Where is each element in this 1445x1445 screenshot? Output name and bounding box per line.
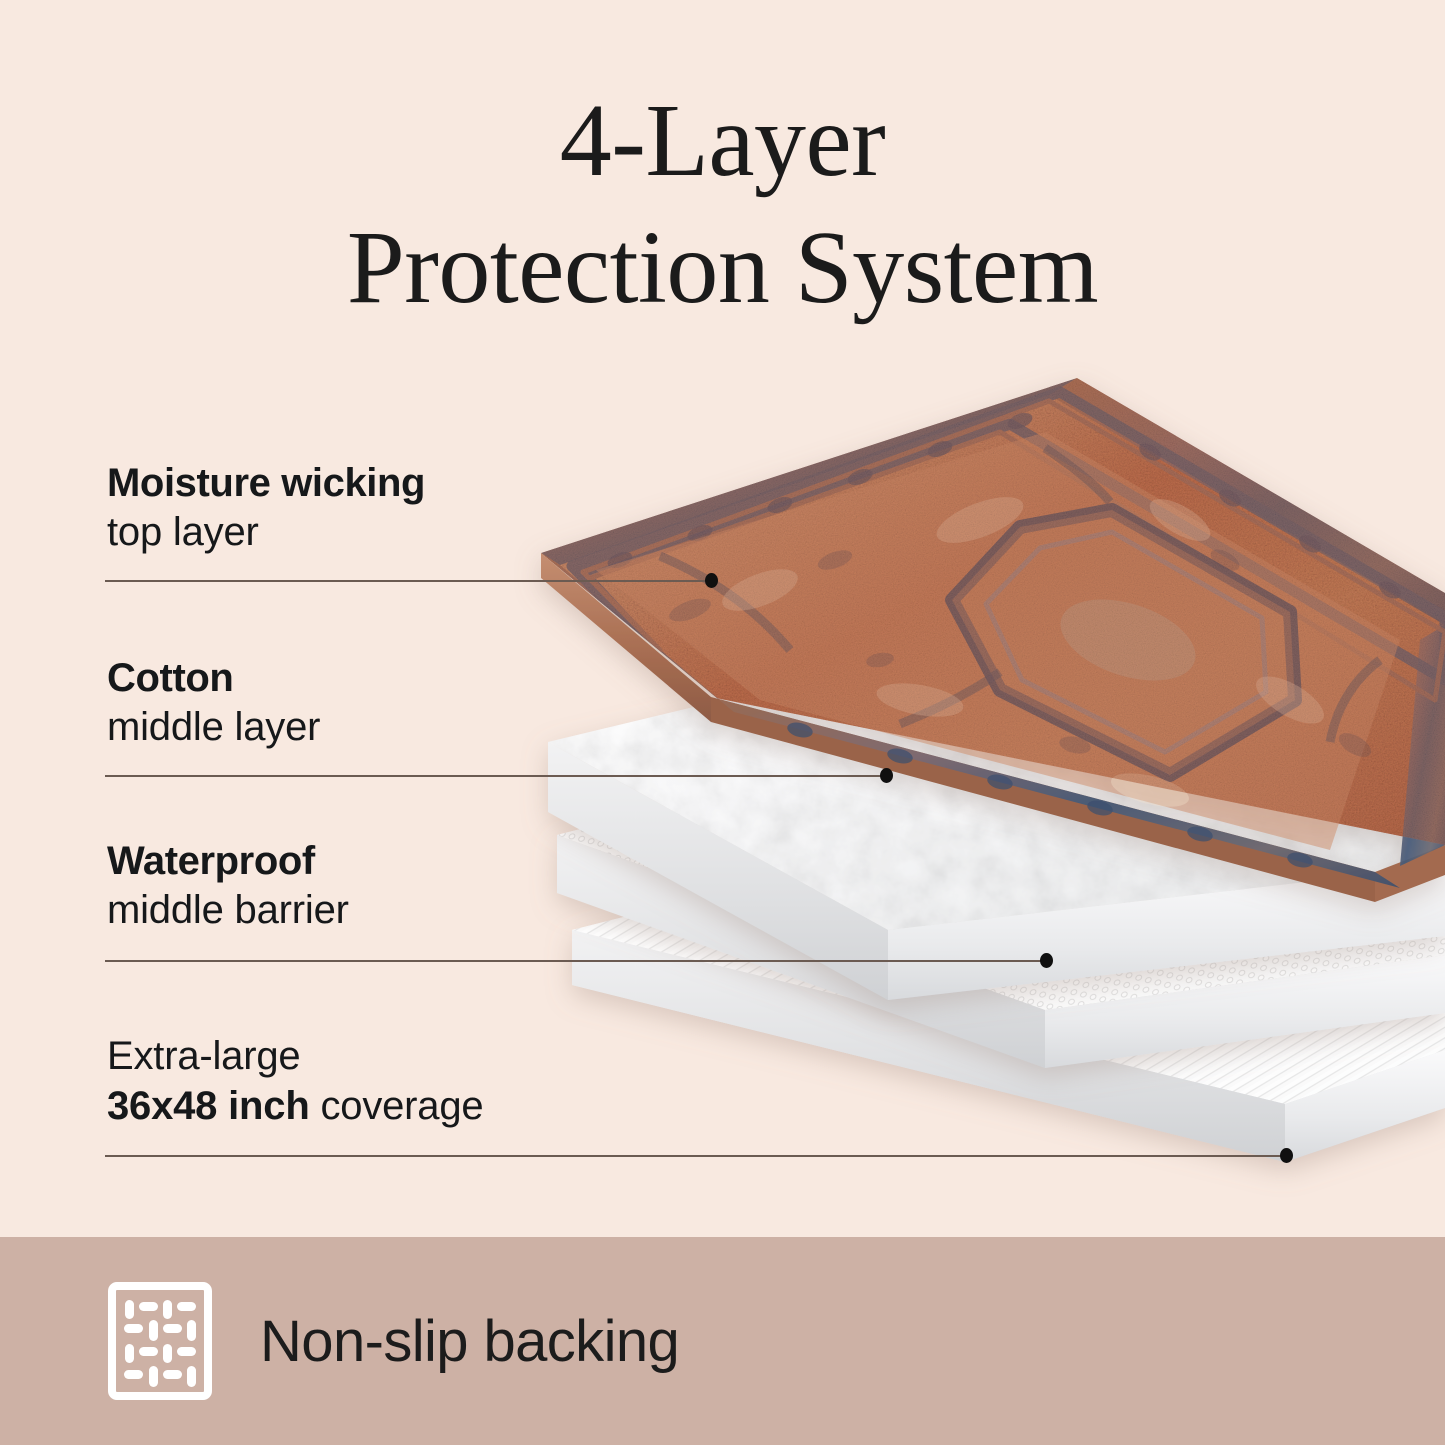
label-coverage-line1: Extra-large [107,1035,483,1078]
leader-line-coverage [105,1155,1286,1157]
leader-line-moisture [105,580,711,582]
layer-shape-rug [541,378,1445,902]
label-moisture-subtitle: top layer [107,510,425,555]
leader-dot-moisture [705,573,718,588]
layer-shape-backing [572,795,1445,1162]
label-waterproof-title: Waterproof [107,840,349,882]
leader-dot-cotton [880,768,893,783]
label-moisture-wicking: Moisture wicking top layer [107,462,425,555]
label-coverage: Extra-large 36x48 inch coverage [107,1035,483,1129]
label-coverage-suffix: coverage [310,1084,484,1128]
non-slip-grip-icon [108,1282,212,1400]
label-cotton-subtitle: middle layer [107,705,320,750]
page-title: 4-Layer Protection System [0,78,1445,332]
title-line-1: 4-Layer [0,78,1445,205]
non-slip-banner-label: Non-slip backing [260,1308,679,1375]
non-slip-banner: Non-slip backing [0,1237,1445,1445]
label-coverage-dimensions: 36x48 inch [107,1084,310,1128]
label-moisture-title: Moisture wicking [107,462,425,504]
layer-shape-cotton [548,613,1445,1000]
leader-dot-waterproof [1040,953,1053,968]
infographic-root: 4-Layer Protection System [0,0,1445,1445]
title-line-2: Protection System [0,205,1445,332]
label-waterproof: Waterproof middle barrier [107,840,349,933]
layer-shape-waterproof [557,700,1445,1068]
leader-dot-coverage [1280,1148,1293,1163]
leader-line-waterproof [105,960,1046,962]
label-cotton-title: Cotton [107,657,320,699]
label-waterproof-subtitle: middle barrier [107,888,349,933]
leader-line-cotton [105,775,886,777]
label-cotton: Cotton middle layer [107,657,320,750]
label-coverage-line2: 36x48 inch coverage [107,1084,483,1129]
rug-medallion [952,510,1295,775]
